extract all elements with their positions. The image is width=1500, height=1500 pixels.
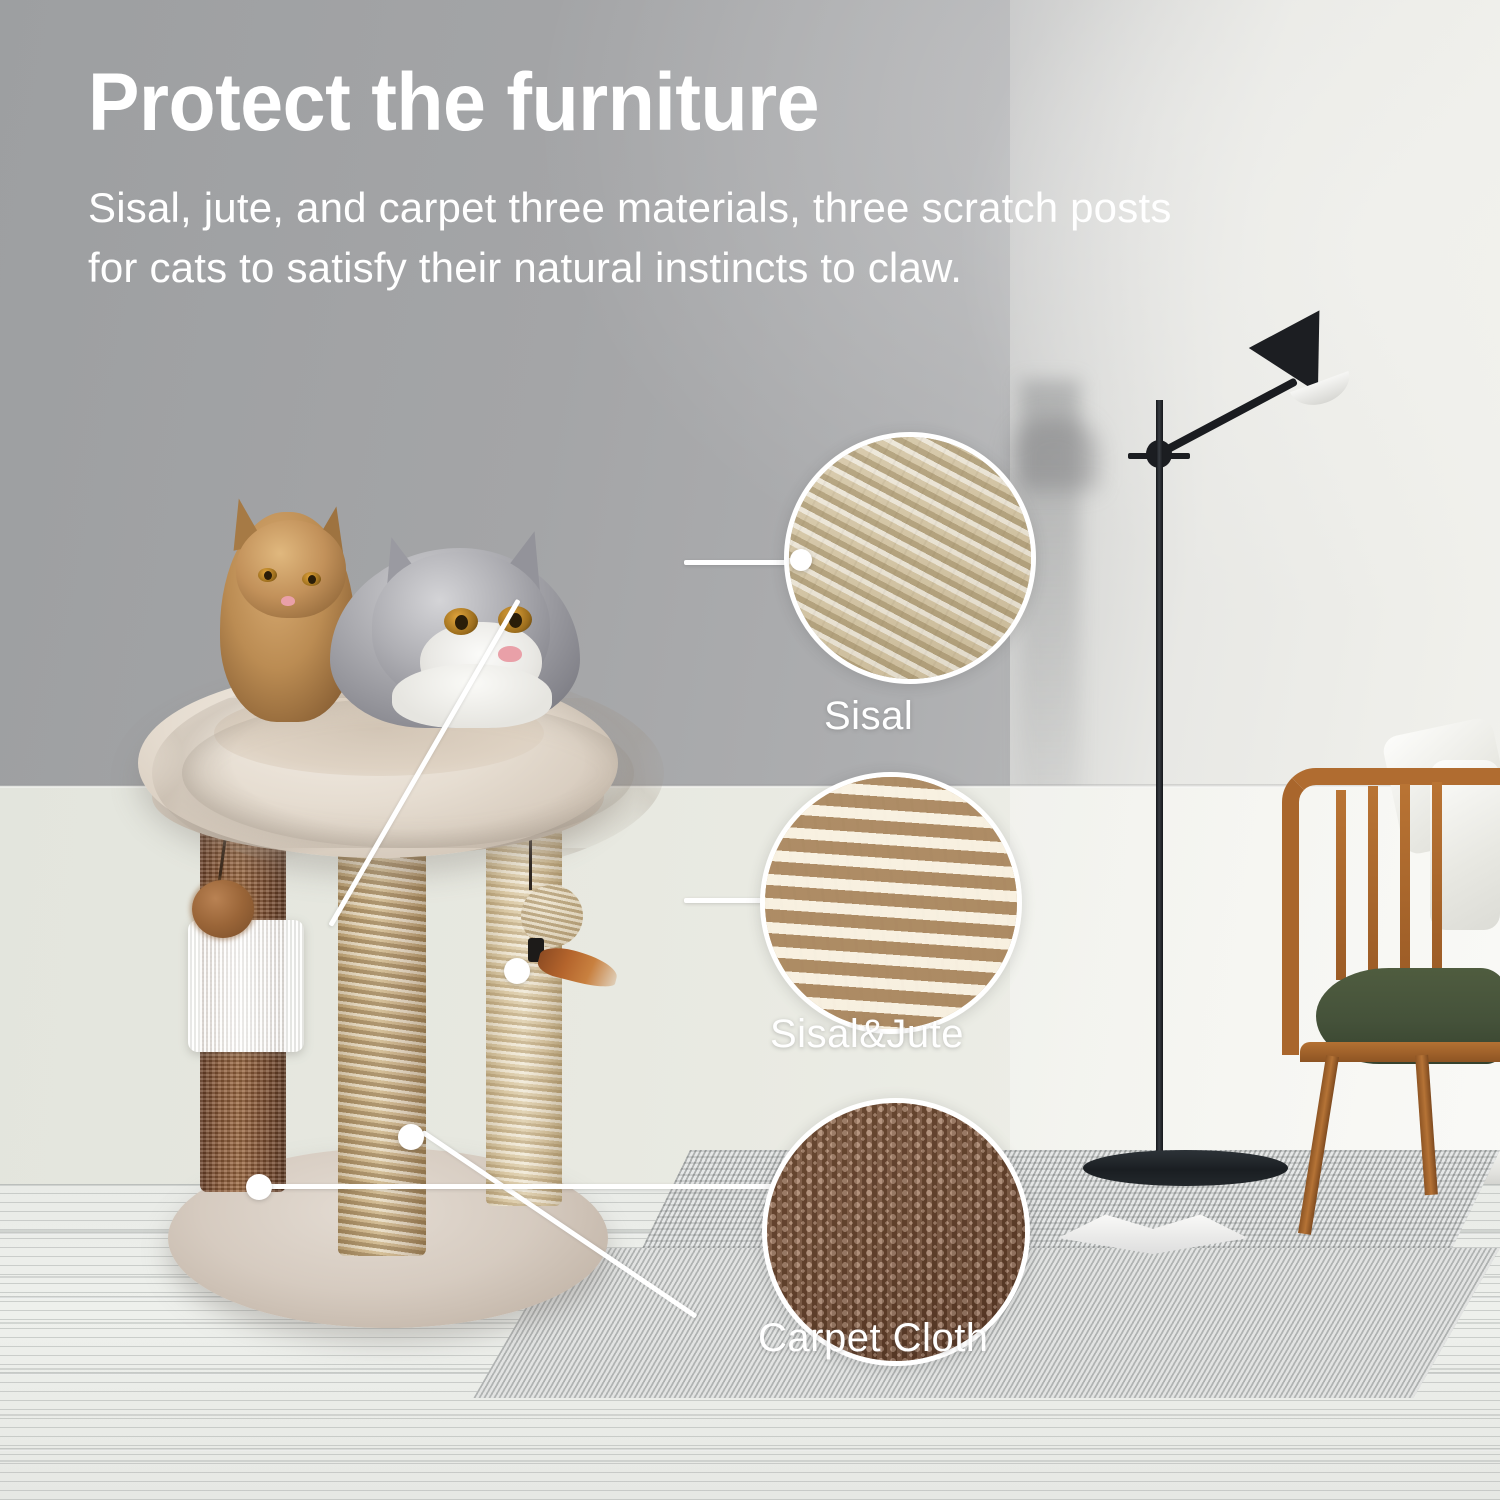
- chair-slat: [1400, 784, 1410, 978]
- self-groomer-brush: [188, 920, 304, 1052]
- cat-nose: [498, 646, 522, 662]
- callout-circle-sisal: [784, 432, 1036, 684]
- kitten-pupil-left: [264, 571, 272, 580]
- sisal-texture-swatch: [789, 437, 1031, 679]
- page-subtitle-line2: for cats to satisfy their natural instin…: [88, 238, 1428, 298]
- anchor-dot-carpet-post: [246, 1174, 272, 1200]
- chair-slat: [1432, 782, 1442, 978]
- chair-slat: [1368, 786, 1378, 978]
- kitten-nose: [281, 596, 295, 606]
- leader-line-carpet-horizontal: [266, 1184, 826, 1189]
- pom-pom-toy: [192, 880, 254, 938]
- gray-wall-lit-area: [1010, 0, 1500, 790]
- product-marketing-image: Sisal Sisal&Jute Carpet Cloth Protect th…: [0, 0, 1500, 1500]
- post-sisal: [486, 826, 562, 1206]
- page-subtitle-line1: Sisal, jute, and carpet three materials,…: [88, 178, 1428, 238]
- callout-label-carpet-cloth: Carpet Cloth: [758, 1316, 989, 1361]
- callout-label-sisal-jute: Sisal&Jute: [770, 1012, 964, 1057]
- callout-circle-sisal-jute: [760, 772, 1022, 1034]
- page-subtitle: Sisal, jute, and carpet three materials,…: [88, 178, 1428, 297]
- anchor-dot-sisal-post: [504, 958, 530, 984]
- callout-label-sisal: Sisal: [824, 694, 913, 739]
- page-title: Protect the furniture: [88, 62, 819, 144]
- post-sisal-jute: [338, 836, 426, 1256]
- lamp-base: [1083, 1150, 1288, 1186]
- lamp-pole: [1156, 400, 1163, 1160]
- anchor-dot-jute-post: [398, 1124, 424, 1150]
- floor-plank-seam: [0, 1448, 1500, 1451]
- cat-pupil-left: [455, 615, 468, 630]
- callout-dot-sisal: [790, 549, 812, 571]
- chair-slat: [1336, 790, 1346, 980]
- kitten-pupil-right: [308, 575, 316, 584]
- sisal-jute-texture-swatch: [765, 777, 1017, 1029]
